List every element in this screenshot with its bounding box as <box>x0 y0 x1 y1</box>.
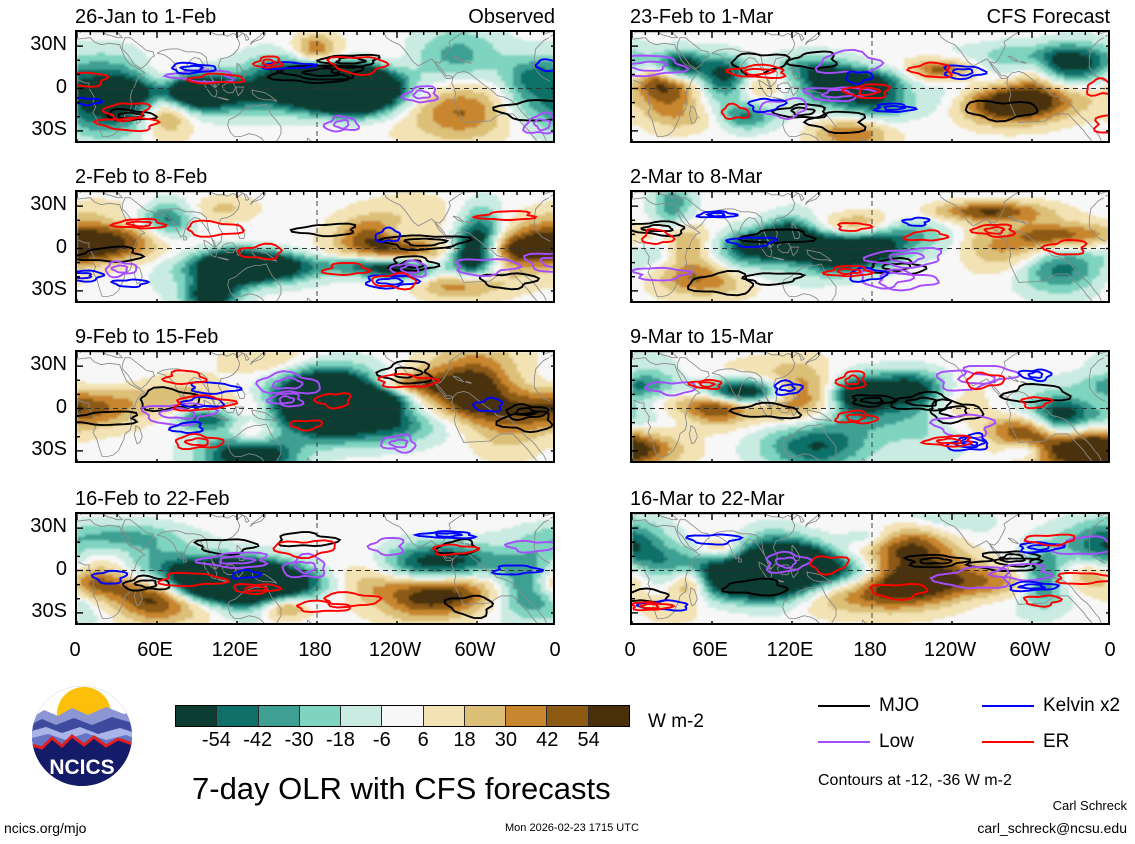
map-area <box>630 30 1110 143</box>
panel-title: 26-Jan to 1-Feb <box>75 7 216 27</box>
colorbar-tick-label: -18 <box>326 729 355 751</box>
logo-text: NCICS <box>49 756 114 779</box>
map-area <box>75 30 555 143</box>
panel-title: 16-Feb to 22-Feb <box>75 489 230 509</box>
colorbar-swatch-8 <box>506 706 547 726</box>
x-tick-label: 60W <box>454 640 495 660</box>
site-url[interactable]: ncics.org/mjo <box>4 820 86 836</box>
panel-title: 16-Mar to 22-Mar <box>630 489 785 509</box>
colorbar-unit-label: W m-2 <box>648 712 704 732</box>
legend-line-er <box>982 741 1034 743</box>
panel-7: 9-Mar to 15-Mar <box>630 350 1110 463</box>
x-tick-label: 120W <box>369 640 421 660</box>
colorbar-tick-label: 30 <box>495 729 517 751</box>
colorbar-tick-label: 6 <box>418 729 429 751</box>
y-tick-label: 30S <box>31 601 67 621</box>
x-tick-label: 0 <box>1104 640 1115 660</box>
y-tick-label: 0 <box>56 77 67 97</box>
panel-tag: Observed <box>468 7 555 27</box>
legend-item-er: ER <box>982 732 1069 751</box>
author-email: carl_schreck@ncsu.edu <box>977 820 1127 836</box>
legend-item-kelvin: Kelvin x2 <box>982 696 1120 715</box>
y-tick-label: 30N <box>30 354 67 374</box>
map-area <box>630 190 1110 303</box>
x-tick-label: 0 <box>624 640 635 660</box>
y-tick-label: 30N <box>30 194 67 214</box>
colorbar-swatch-5 <box>382 706 423 726</box>
panel-5: 23-Feb to 1-MarCFS Forecast <box>630 30 1110 143</box>
legend-label-mjo: MJO <box>879 696 919 715</box>
y-tick-label: 30N <box>30 34 67 54</box>
colorbar-tick-label: -42 <box>243 729 272 751</box>
y-tick-label: 0 <box>56 237 67 257</box>
contour-legend: MJO Kelvin x2 Low ER <box>818 690 1118 760</box>
olr-anomaly-shading <box>77 352 555 463</box>
panel-title: 2-Feb to 8-Feb <box>75 167 207 187</box>
contour-level-note: Contours at -12, -36 W m-2 <box>818 772 1012 790</box>
legend-label-er: ER <box>1043 732 1069 751</box>
panel-6: 2-Mar to 8-Mar <box>630 190 1110 303</box>
panel-tag: CFS Forecast <box>987 7 1110 27</box>
x-tick-label: 60W <box>1009 640 1050 660</box>
panel-2: 2-Feb to 8-Feb30N030S <box>75 190 555 303</box>
panel-1: 26-Jan to 1-FebObserved30N030S <box>75 30 555 143</box>
colorbar-tick-label: -30 <box>285 729 314 751</box>
map-area <box>630 350 1110 463</box>
legend-item-mjo: MJO <box>818 696 919 715</box>
olr-anomaly-shading <box>632 514 1110 625</box>
x-tick-label: 120W <box>924 640 976 660</box>
colorbar-swatch-0 <box>176 706 217 726</box>
colorbar-tick-label: -54 <box>202 729 231 751</box>
olr-anomaly-shading <box>77 192 555 303</box>
map-area <box>75 190 555 303</box>
y-tick-label: 30N <box>30 516 67 536</box>
x-tick-label: 60E <box>137 640 173 660</box>
colorbar-ticklabels: -54-42-30-18-6618304254 <box>175 729 630 753</box>
map-area <box>630 512 1110 625</box>
colorbar-swatch-7 <box>465 706 506 726</box>
timestamp: Mon 2026-02-23 1715 UTC <box>505 822 639 835</box>
y-tick-label: 0 <box>56 397 67 417</box>
legend-label-kelvin: Kelvin x2 <box>1043 696 1120 715</box>
panel-3: 9-Feb to 15-Feb30N030S <box>75 350 555 463</box>
y-tick-label: 30S <box>31 279 67 299</box>
legend-line-low <box>818 741 870 743</box>
x-tick-label: 180 <box>298 640 331 660</box>
colorbar-tick-label: -6 <box>373 729 391 751</box>
colorbar-swatch-1 <box>217 706 258 726</box>
colorbar-tick-label: 18 <box>453 729 475 751</box>
ncics-logo: NCICS <box>28 682 136 790</box>
panel-title: 2-Mar to 8-Mar <box>630 167 762 187</box>
colorbar-tick-label: 54 <box>578 729 600 751</box>
colorbar-swatch-10 <box>589 706 629 726</box>
x-tick-label: 60E <box>692 640 728 660</box>
author-name: Carl Schreck <box>1053 798 1127 813</box>
colorbar <box>175 705 630 727</box>
legend-item-low: Low <box>818 732 914 751</box>
panel-title: 9-Mar to 15-Mar <box>630 327 773 347</box>
colorbar-swatch-9 <box>547 706 588 726</box>
legend-label-low: Low <box>879 732 914 751</box>
colorbar-tick-label: 42 <box>536 729 558 751</box>
colorbar-swatch-4 <box>341 706 382 726</box>
x-tick-label: 0 <box>549 640 560 660</box>
x-tick-label: 120E <box>212 640 259 660</box>
figure-title: 7-day OLR with CFS forecasts <box>192 772 611 806</box>
panel-title: 9-Feb to 15-Feb <box>75 327 218 347</box>
legend-line-mjo <box>818 705 870 707</box>
y-tick-label: 30S <box>31 439 67 459</box>
x-tick-label: 180 <box>853 640 886 660</box>
legend-line-kelvin <box>982 705 1034 707</box>
map-area <box>75 512 555 625</box>
panel-4: 16-Feb to 22-Feb30N030S <box>75 512 555 625</box>
y-tick-label: 0 <box>56 559 67 579</box>
x-tick-label: 120E <box>767 640 814 660</box>
x-tick-label: 0 <box>69 640 80 660</box>
y-tick-label: 30S <box>31 119 67 139</box>
colorbar-swatch-3 <box>300 706 341 726</box>
panel-8: 16-Mar to 22-Mar <box>630 512 1110 625</box>
map-area <box>75 350 555 463</box>
colorbar-swatch-6 <box>424 706 465 726</box>
panel-title: 23-Feb to 1-Mar <box>630 7 773 27</box>
colorbar-swatch-2 <box>259 706 300 726</box>
